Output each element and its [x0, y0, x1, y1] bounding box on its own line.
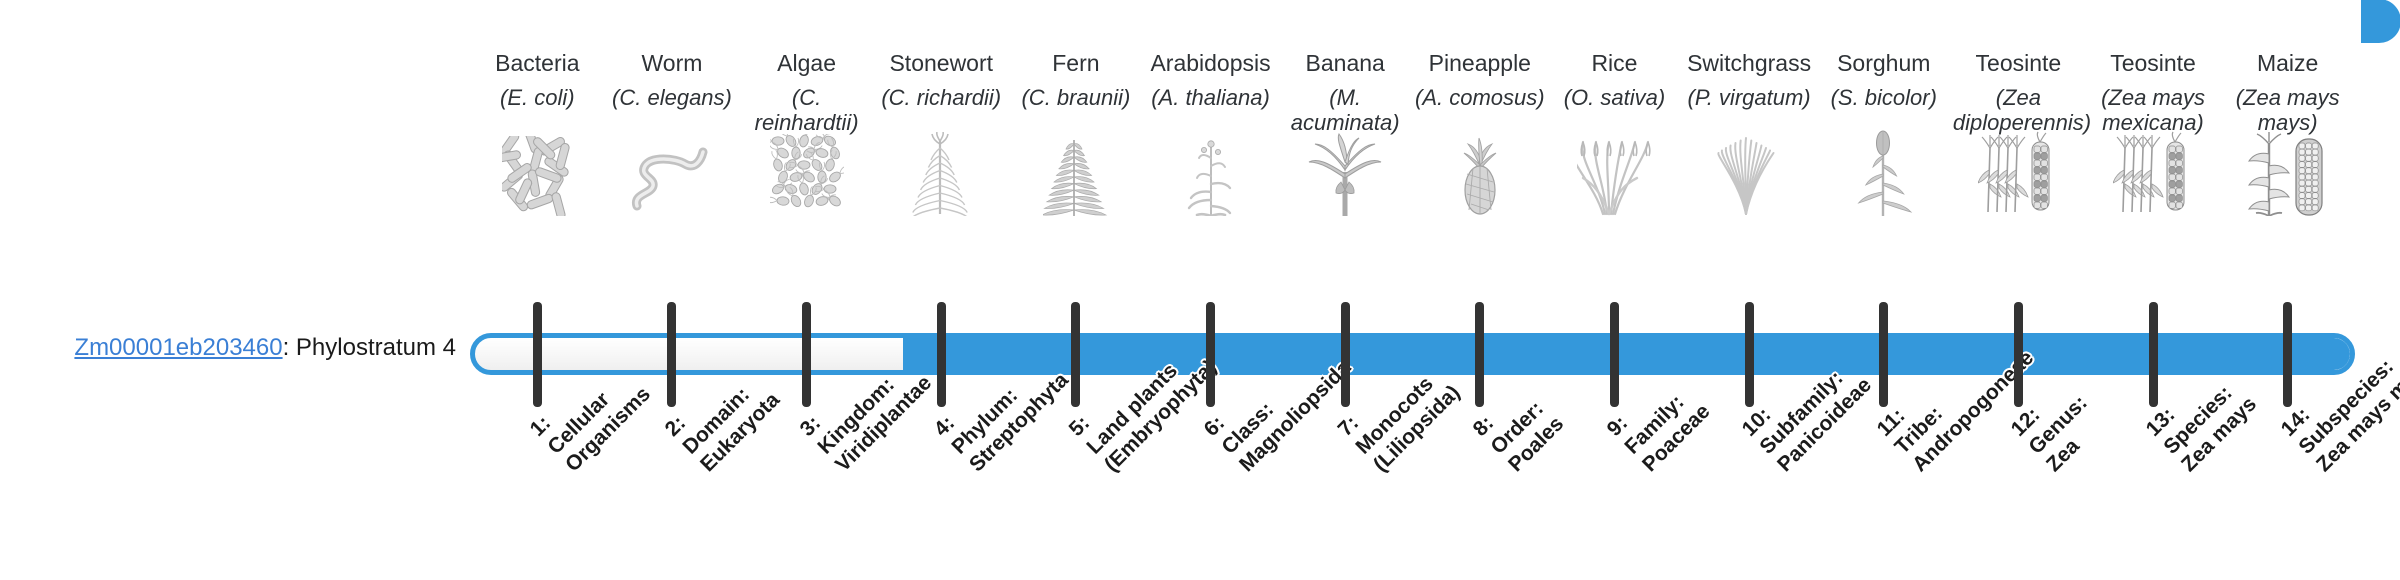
arabidopsis-plant-icon: [1145, 128, 1276, 216]
species-common-name: Teosinte: [1953, 50, 2084, 76]
species-scientific-name: (C. elegans): [606, 85, 737, 110]
species-scientific-name: (A. comosus): [1414, 85, 1545, 110]
pineapple-icon: [1414, 128, 1545, 216]
stratum-tick: [667, 302, 676, 407]
species-common-name: Switchgrass: [1684, 50, 1815, 76]
species-scientific-name: (C. braunii): [1010, 85, 1141, 110]
species-column: Banana(M. acuminata): [1280, 50, 1411, 135]
nematode-worm-icon: [606, 128, 737, 216]
stratum-tick: [1879, 302, 1888, 407]
species-column: Arabidopsis(A. thaliana): [1145, 50, 1276, 110]
species-column: Fern(C. braunii): [1010, 50, 1141, 110]
stratum-tick: [2014, 302, 2023, 407]
stratum-tick: [802, 302, 811, 407]
algae-cells-icon: [741, 128, 872, 216]
species-scientific-name: (P. virgatum): [1684, 85, 1815, 110]
gene-id-link[interactable]: Zm00001eb203460: [74, 334, 282, 361]
species-columns: Bacteria(E. coli)1:CellularOrganismsWorm…: [470, 0, 2355, 580]
stratum-tick: [1610, 302, 1619, 407]
species-column: Pineapple(A. comosus): [1414, 50, 1545, 110]
species-scientific-name: (O. sativa): [1549, 85, 1680, 110]
species-common-name: Teosinte: [2088, 50, 2219, 76]
species-common-name: Sorghum: [1818, 50, 1949, 76]
species-column: Teosinte(Zea mays mexicana): [2088, 50, 2219, 135]
rice-plant-icon: [1549, 128, 1680, 216]
species-column: Sorghum(S. bicolor): [1818, 50, 1949, 110]
species-column: Switchgrass(P. virgatum): [1684, 50, 1815, 110]
stratum-tick: [1745, 302, 1754, 407]
fern-frond-icon: [1010, 128, 1141, 216]
stonewort-icon: [876, 128, 1007, 216]
stratum-tick: [1071, 302, 1080, 407]
stratum-tick: [2283, 302, 2292, 407]
species-common-name: Fern: [1010, 50, 1141, 76]
label-separator: :: [283, 334, 296, 361]
teosinte-plant-and-ear-icon: [2088, 128, 2219, 216]
species-column: Worm(C. elegans): [606, 50, 737, 110]
species-column: Maize(Zea mays mays): [2222, 50, 2353, 135]
species-scientific-name: (S. bicolor): [1818, 85, 1949, 110]
species-column: Bacteria(E. coli): [472, 50, 603, 110]
banana-tree-icon: [1280, 128, 1411, 216]
species-common-name: Worm: [606, 50, 737, 76]
species-scientific-name: (C. richardii): [876, 85, 1007, 110]
stratum-tick: [1475, 302, 1484, 407]
species-column: Rice(O. sativa): [1549, 50, 1680, 110]
stratum-tick: [2149, 302, 2158, 407]
species-common-name: Arabidopsis: [1145, 50, 1276, 76]
switchgrass-icon: [1684, 128, 1815, 216]
species-common-name: Banana: [1280, 50, 1411, 76]
phylostratum-timeline: Zm00001eb203460: Phylostratum 4 Bacteria…: [0, 0, 2400, 580]
bacteria-icon: [472, 128, 603, 216]
stratum-tick: [1206, 302, 1215, 407]
species-column: Stonewort(C. richardii): [876, 50, 1007, 110]
progress-right-cap: [2361, 0, 2400, 43]
species-scientific-name: (E. coli): [472, 85, 603, 110]
species-common-name: Pineapple: [1414, 50, 1545, 76]
species-column: Algae(C. reinhardtii): [741, 50, 872, 135]
species-common-name: Stonewort: [876, 50, 1007, 76]
stratum-tick: [937, 302, 946, 407]
species-common-name: Rice: [1549, 50, 1680, 76]
species-common-name: Algae: [741, 50, 872, 76]
stratum-tick: [533, 302, 542, 407]
phylostratum-value-text: Phylostratum 4: [296, 334, 456, 361]
maize-plant-and-cob-icon: [2222, 128, 2353, 216]
stratum-tick: [1341, 302, 1350, 407]
gene-phylostratum-label: Zm00001eb203460: Phylostratum 4: [0, 334, 456, 362]
species-scientific-name: (A. thaliana): [1145, 85, 1276, 110]
teosinte-plant-and-ear-icon: [1953, 128, 2084, 216]
species-common-name: Maize: [2222, 50, 2353, 76]
sorghum-plant-icon: [1818, 128, 1949, 216]
species-common-name: Bacteria: [472, 50, 603, 76]
species-column: Teosinte(Zea diploperennis): [1953, 50, 2084, 135]
